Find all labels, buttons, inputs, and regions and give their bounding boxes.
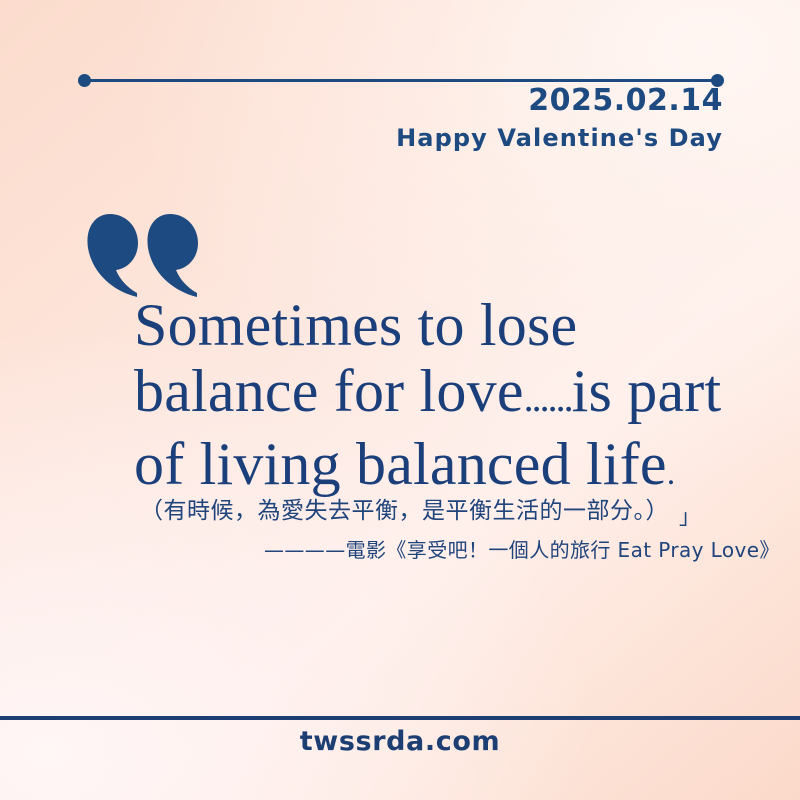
header-text-block: 2025.02.14 Happy Valentine's Day: [396, 84, 723, 154]
quote-period: .: [667, 455, 676, 492]
quote-line-2-part-b: is part: [572, 358, 722, 424]
header-rule: [84, 79, 718, 82]
valentines-quote-poster: 2025.02.14 Happy Valentine's Day Sometim…: [0, 0, 800, 800]
footer-website-url[interactable]: twssrda.com: [0, 726, 800, 757]
quote-line-1: Sometimes to lose: [134, 292, 774, 358]
date-label: 2025.02.14: [396, 84, 723, 119]
quote-line-2: balance for love......is part: [134, 358, 774, 431]
quote-translation: （有時候，為愛失去平衡，是平衡生活的一部分。）」: [140, 496, 701, 526]
quote-ellipsis: ......: [524, 375, 572, 420]
quote-block: Sometimes to lose balance for love......…: [134, 292, 774, 507]
quote-line-3-text: of living balanced life: [134, 431, 667, 497]
footer-rule: [0, 716, 800, 720]
double-quote-open-icon: [82, 212, 202, 298]
quote-translation-text: （有時候，為愛失去平衡，是平衡生活的一部分。）: [140, 498, 669, 524]
greeting-label: Happy Valentine's Day: [396, 123, 723, 154]
quote-line-2-part-a: balance for love: [134, 358, 524, 424]
header-rule-left-dot-icon: [78, 74, 91, 87]
quote-attribution: ————電影《享受吧！一個人的旅行 Eat Pray Love》: [264, 536, 780, 564]
quote-close-bracket: 」: [679, 502, 701, 532]
